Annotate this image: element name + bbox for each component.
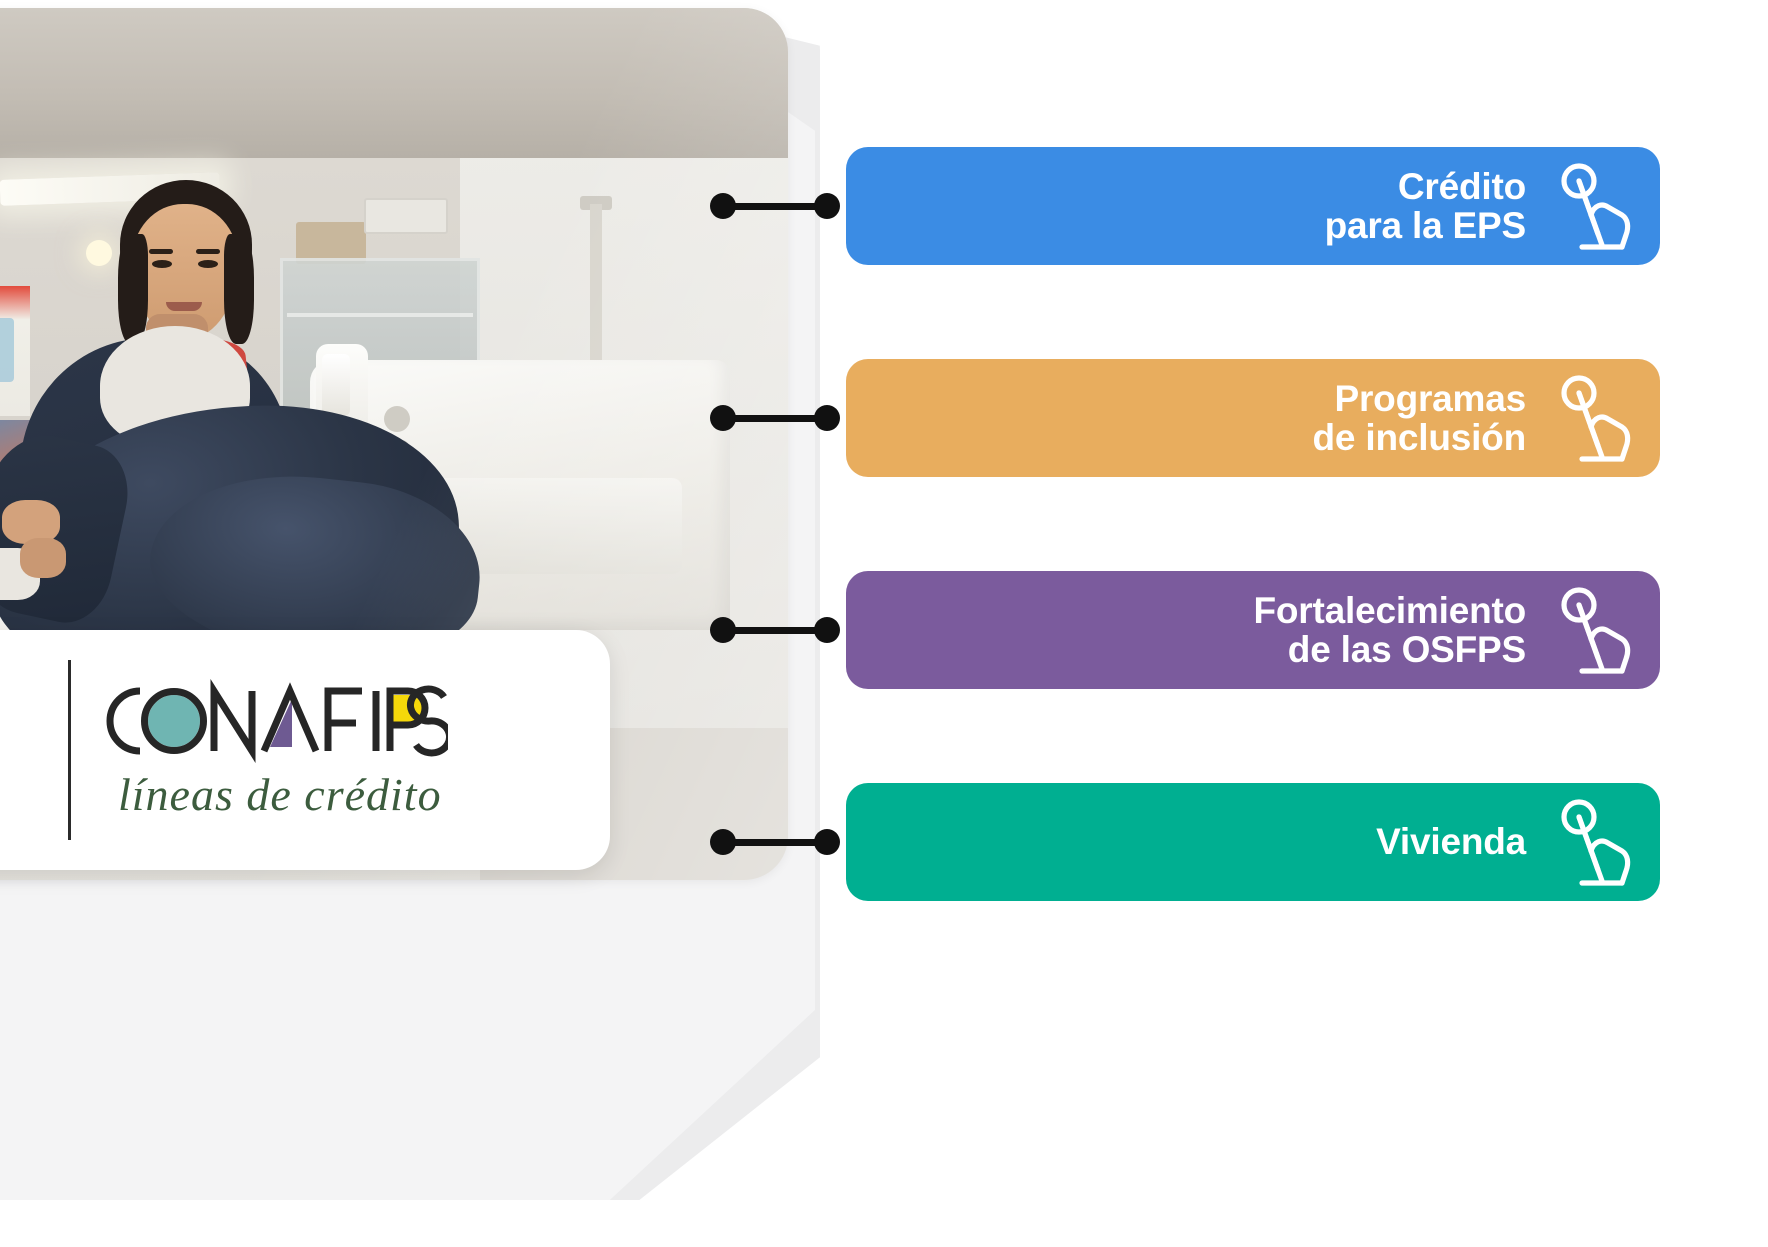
button-vivienda[interactable]: Vivienda — [846, 783, 1660, 901]
conafips-wordmark-svg — [96, 679, 448, 763]
button-credito-para-la-eps[interactable]: Crédito para la EPS — [846, 147, 1660, 265]
connector-dot-right-1 — [814, 193, 840, 219]
credit-line-row-credito-eps: Crédito para la EPS — [800, 146, 1660, 266]
left-visual-panel: líneas de crédito — [0, 0, 830, 1200]
logo-vertical-rule — [68, 660, 71, 840]
logo-tagline: líneas de crédito — [118, 768, 448, 821]
logo-o-teal-circle — [148, 695, 200, 747]
conafips-wordmark — [96, 680, 448, 762]
tap-hand-icon — [1552, 159, 1634, 253]
dumbbell-connector-1 — [710, 193, 840, 219]
logo-inner: líneas de crédito — [68, 660, 448, 840]
credit-line-row-vivienda: Vivienda — [800, 782, 1660, 902]
connector-line-1 — [724, 203, 826, 210]
infographic-stage: líneas de crédito Crédito para la EPS — [0, 0, 1768, 1247]
button-label-credito-para-la-eps: Crédito para la EPS — [1325, 167, 1526, 245]
button-label-programas-de-inclusion: Programas de inclusión — [1313, 379, 1526, 457]
tap-hand-icon — [1552, 795, 1634, 889]
connector-dot-right-4 — [814, 829, 840, 855]
connector-dot-right-2 — [814, 405, 840, 431]
dumbbell-connector-4 — [710, 829, 840, 855]
button-fortalecimiento-de-las-osfps[interactable]: Fortalecimiento de las OSFPS — [846, 571, 1660, 689]
tap-hand-icon — [1552, 583, 1634, 677]
dumbbell-connector-3 — [710, 617, 840, 643]
tap-hand-icon — [1552, 371, 1634, 465]
connector-line-2 — [724, 415, 826, 422]
dumbbell-connector-2 — [710, 405, 840, 431]
connector-line-4 — [724, 839, 826, 846]
connector-dot-right-3 — [814, 617, 840, 643]
credit-line-row-fortalecimiento-osfps: Fortalecimiento de las OSFPS — [800, 570, 1660, 690]
button-programas-de-inclusion[interactable]: Programas de inclusión — [846, 359, 1660, 477]
connector-line-3 — [724, 627, 826, 634]
button-label-fortalecimiento-de-las-osfps: Fortalecimiento de las OSFPS — [1254, 591, 1527, 669]
logo-card: líneas de crédito — [0, 630, 610, 870]
credit-line-row-programas-inclusion: Programas de inclusión — [800, 358, 1660, 478]
button-label-vivienda: Vivienda — [1376, 822, 1526, 861]
